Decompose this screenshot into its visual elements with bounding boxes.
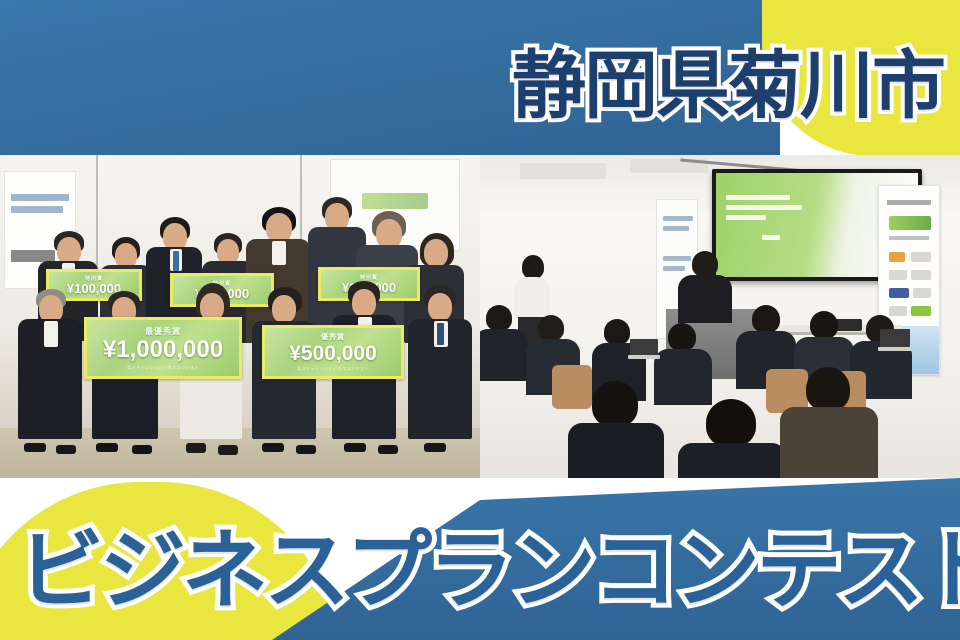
shoe <box>344 443 366 452</box>
ceiling-panel <box>520 163 606 179</box>
shoe <box>296 445 316 454</box>
laptop <box>628 355 660 359</box>
backdrop-screen-logo <box>362 193 428 209</box>
photo-seminar-room <box>480 155 960 480</box>
shoe <box>96 443 118 452</box>
shoe <box>262 443 284 452</box>
page-title-contest: ビジネスプランコンテスト <box>18 500 960 625</box>
shoe <box>218 445 238 455</box>
shoe <box>132 445 152 454</box>
shoe <box>378 445 398 454</box>
photo-award-ceremony: 特別賞 ¥100,000 特別賞 ¥100,000 特別賞 ¥100,000 <box>0 155 480 480</box>
shoe <box>186 443 206 453</box>
photo-band: 特別賞 ¥100,000 特別賞 ¥100,000 特別賞 ¥100,000 <box>0 155 960 480</box>
page-title-city: 静岡県菊川市 <box>512 26 944 133</box>
shoe <box>56 445 76 454</box>
laptop-screen <box>630 339 658 355</box>
laptop-screen <box>880 329 910 347</box>
shoe <box>24 443 46 452</box>
shoe <box>424 443 446 452</box>
banner-root: 特別賞 ¥100,000 特別賞 ¥100,000 特別賞 ¥100,000 <box>0 0 960 640</box>
prize-check-first-place: 最優秀賞 ¥1,000,000 菊川チャレンジビジネスコンテスト <box>84 317 242 379</box>
prize-check-second-place: 優秀賞 ¥500,000 菊川チャレンジビジネスコンテスト <box>262 325 404 379</box>
chair <box>552 365 592 409</box>
laptop <box>878 347 912 351</box>
